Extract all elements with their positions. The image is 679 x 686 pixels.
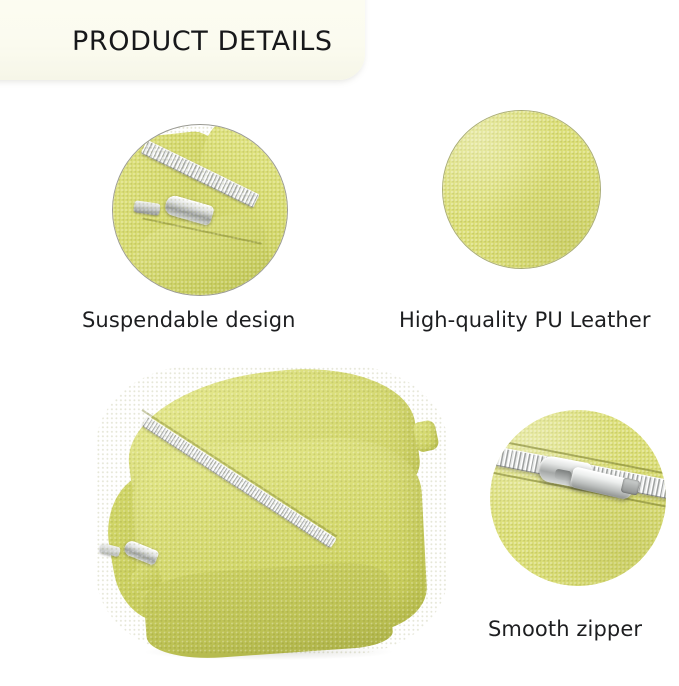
caption-suspendable-design: Suspendable design bbox=[82, 308, 296, 332]
leather-swatch-texture bbox=[443, 111, 600, 268]
product-photo bbox=[96, 366, 448, 654]
pu-leather-figure bbox=[442, 110, 601, 269]
smooth-zipper-figure bbox=[490, 410, 666, 586]
zipper-pull-end-cap bbox=[621, 477, 641, 495]
leather-grain-texture bbox=[113, 125, 287, 295]
leather-background-texture bbox=[490, 410, 666, 586]
suspendable-design-figure bbox=[112, 124, 288, 296]
caption-smooth-zipper: Smooth zipper bbox=[488, 617, 642, 641]
side-loop-tab bbox=[413, 419, 441, 453]
page-title: PRODUCT DETAILS bbox=[72, 26, 333, 57]
caption-pu-leather: High-quality PU Leather bbox=[399, 308, 651, 332]
